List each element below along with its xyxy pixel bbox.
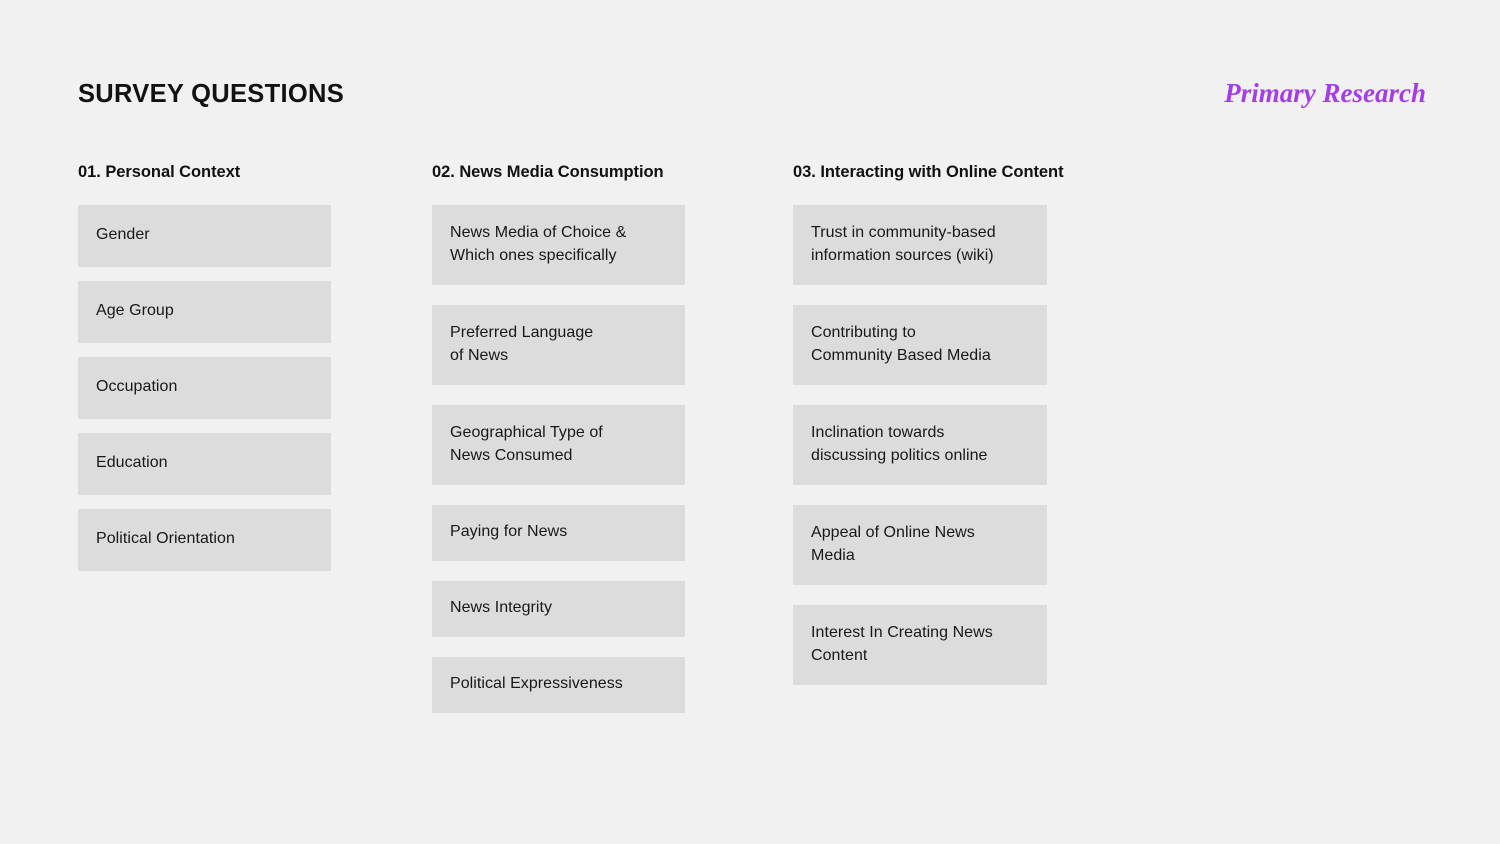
question-card-label: Paying for News	[450, 521, 567, 544]
question-card-label: Age Group	[96, 300, 174, 323]
question-card[interactable]: Political Expressiveness	[432, 657, 685, 713]
question-card-label: News Integrity	[450, 597, 552, 620]
question-card-label: Education	[96, 452, 168, 475]
question-card-label: Contributing to Community Based Media	[811, 322, 991, 367]
column-interacting-online-content: 03. Interacting with Online Content Trus…	[793, 163, 1047, 685]
question-card-label: Preferred Language of News	[450, 322, 593, 367]
question-card[interactable]: Preferred Language of News	[432, 305, 685, 385]
question-card-label: Trust in community-based information sou…	[811, 222, 996, 267]
card-list: Gender Age Group Occupation Education Po…	[78, 205, 331, 571]
slide-header: SURVEY QUESTIONS Primary Research	[78, 78, 1426, 122]
question-card[interactable]: News Media of Choice & Which ones specif…	[432, 205, 685, 285]
question-columns: 01. Personal Context Gender Age Group Oc…	[78, 163, 1428, 713]
question-card-label: Occupation	[96, 376, 177, 399]
question-card[interactable]: Appeal of Online News Media	[793, 505, 1047, 585]
section-label: Primary Research	[1224, 78, 1426, 107]
question-card-label: Inclination towards discussing politics …	[811, 422, 988, 467]
question-card[interactable]: Paying for News	[432, 505, 685, 561]
column-heading: 01. Personal Context	[78, 163, 331, 183]
card-list: News Media of Choice & Which ones specif…	[432, 205, 685, 713]
question-card-label: Appeal of Online News Media	[811, 522, 975, 567]
column-heading: 03. Interacting with Online Content	[793, 163, 1047, 183]
question-card-label: Geographical Type of News Consumed	[450, 422, 603, 467]
question-card-label: News Media of Choice & Which ones specif…	[450, 222, 626, 267]
question-card-label: Interest In Creating News Content	[811, 622, 993, 667]
question-card-label: Gender	[96, 224, 150, 247]
question-card[interactable]: Gender	[78, 205, 331, 267]
question-card[interactable]: Age Group	[78, 281, 331, 343]
question-card[interactable]: Contributing to Community Based Media	[793, 305, 1047, 385]
page-title: SURVEY QUESTIONS	[78, 78, 344, 108]
card-list: Trust in community-based information sou…	[793, 205, 1047, 685]
slide-canvas: SURVEY QUESTIONS Primary Research 01. Pe…	[0, 0, 1500, 844]
column-news-media-consumption: 02. News Media Consumption News Media of…	[432, 163, 685, 713]
question-card[interactable]: Political Orientation	[78, 509, 331, 571]
question-card[interactable]: Education	[78, 433, 331, 495]
question-card-label: Political Orientation	[96, 528, 235, 551]
question-card[interactable]: Trust in community-based information sou…	[793, 205, 1047, 285]
question-card[interactable]: News Integrity	[432, 581, 685, 637]
question-card-label: Political Expressiveness	[450, 673, 623, 696]
question-card[interactable]: Interest In Creating News Content	[793, 605, 1047, 685]
question-card[interactable]: Inclination towards discussing politics …	[793, 405, 1047, 485]
column-personal-context: 01. Personal Context Gender Age Group Oc…	[78, 163, 331, 571]
question-card[interactable]: Geographical Type of News Consumed	[432, 405, 685, 485]
question-card[interactable]: Occupation	[78, 357, 331, 419]
column-heading: 02. News Media Consumption	[432, 163, 685, 183]
